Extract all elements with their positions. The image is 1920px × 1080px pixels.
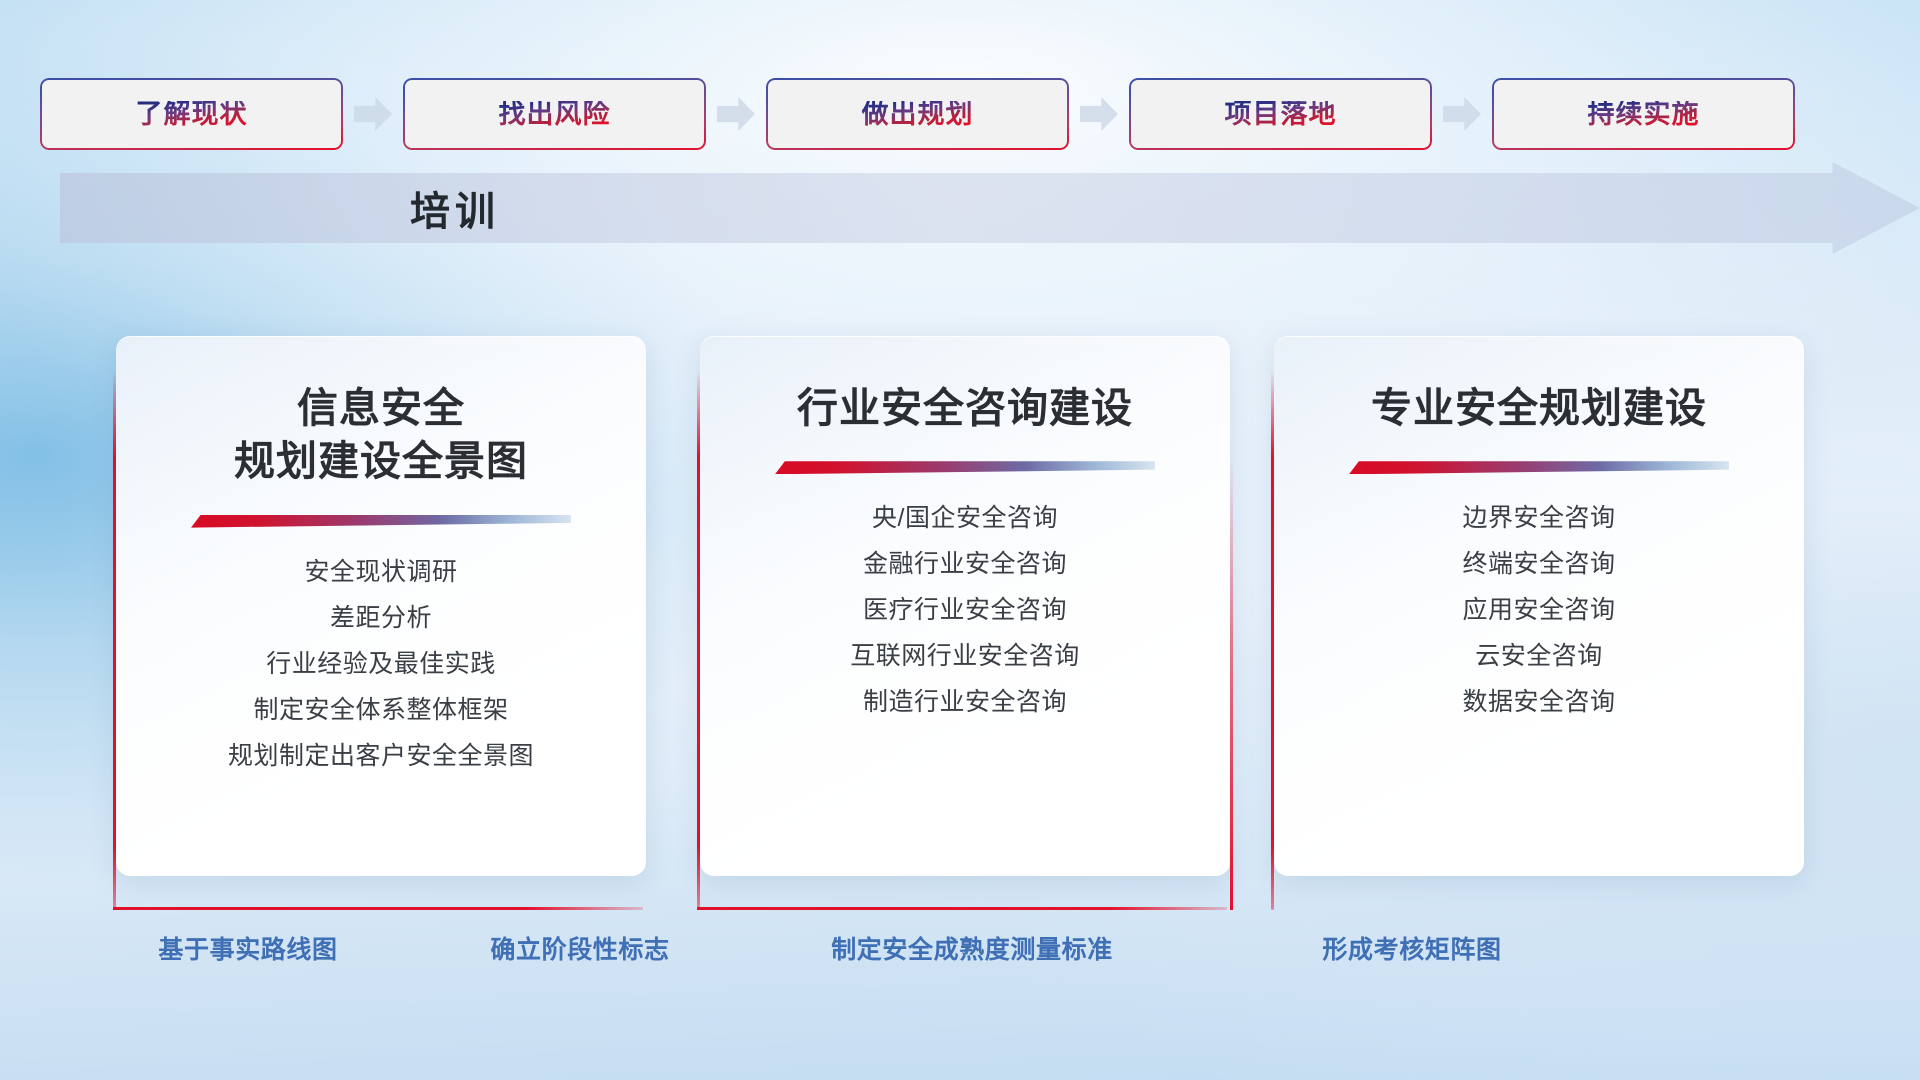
- bottom-labels-row: 基于事实路线图 确立阶段性标志 制定安全成熟度测量标准 形成考核矩阵图: [0, 930, 1920, 974]
- card-3[interactable]: 专业安全规划建设 边界安全咨询 终端安全咨询 应用安全咨询 云安全咨询 数据安全…: [1274, 336, 1804, 876]
- chevron-right-arrow-icon: [1443, 97, 1481, 131]
- list-item: 安全现状调研: [150, 560, 612, 606]
- card-accent-right: [1230, 456, 1233, 910]
- flow-step-label: 项目落地: [1225, 101, 1337, 128]
- list-item: 央/国企安全咨询: [734, 506, 1196, 552]
- flow-arrow-3: [1069, 78, 1129, 150]
- flow-step-4[interactable]: 项目落地: [1129, 78, 1432, 150]
- chevron-right-arrow-icon: [1080, 97, 1118, 131]
- card-title: 信息安全 规划建设全景图: [234, 382, 528, 489]
- flow-step-label: 做出规划: [862, 101, 974, 128]
- card-list: 安全现状调研 差距分析 行业经验及最佳实践 制定安全体系整体框架 规划制定出客户…: [150, 560, 612, 790]
- list-item: 互联网行业安全咨询: [734, 644, 1196, 690]
- bottom-label-4: 形成考核矩阵图: [1322, 930, 1501, 966]
- list-item: 边界安全咨询: [1308, 506, 1770, 552]
- list-item: 云安全咨询: [1308, 644, 1770, 690]
- list-item: 制造行业安全咨询: [734, 690, 1196, 736]
- bottom-label-3: 制定安全成熟度测量标准: [831, 930, 1113, 966]
- flow-step-label: 了解现状: [136, 101, 248, 128]
- training-title: 培训: [60, 179, 1920, 237]
- flow-step-3[interactable]: 做出规划: [766, 78, 1069, 150]
- training-band: 培训: [60, 162, 1920, 254]
- card-divider: [1349, 461, 1729, 474]
- cards-row: 信息安全 规划建设全景图 安全现状调研 差距分析 行业经验及最佳实践 制定安全体…: [0, 336, 1920, 876]
- list-item: 终端安全咨询: [1308, 552, 1770, 598]
- list-item: 规划制定出客户安全全景图: [150, 744, 612, 790]
- card-accent-bottom: [113, 907, 643, 910]
- flow-arrow-4: [1432, 78, 1492, 150]
- card-2[interactable]: 行业安全咨询建设 央/国企安全咨询 金融行业安全咨询 医疗行业安全咨询 互联网行…: [700, 336, 1230, 876]
- list-item: 医疗行业安全咨询: [734, 598, 1196, 644]
- card-divider: [775, 461, 1155, 474]
- card-divider: [191, 515, 571, 528]
- card-list: 央/国企安全咨询 金融行业安全咨询 医疗行业安全咨询 互联网行业安全咨询 制造行…: [734, 506, 1196, 736]
- list-item: 金融行业安全咨询: [734, 552, 1196, 598]
- card-1[interactable]: 信息安全 规划建设全景图 安全现状调研 差距分析 行业经验及最佳实践 制定安全体…: [116, 336, 646, 876]
- card-accent-bottom: [697, 907, 1227, 910]
- process-flow-row: 了解现状 找出风险 做出规划 项目落地 持续实施: [40, 78, 1880, 150]
- card-title: 专业安全规划建设: [1371, 382, 1707, 435]
- flow-step-label: 找出风险: [499, 101, 611, 128]
- bottom-label-1: 基于事实路线图: [158, 930, 337, 966]
- list-item: 行业经验及最佳实践: [150, 652, 612, 698]
- chevron-right-arrow-icon: [354, 97, 392, 131]
- flow-step-5[interactable]: 持续实施: [1492, 78, 1795, 150]
- card-list: 边界安全咨询 终端安全咨询 应用安全咨询 云安全咨询 数据安全咨询: [1308, 506, 1770, 736]
- flow-step-1[interactable]: 了解现状: [40, 78, 343, 150]
- list-item: 差距分析: [150, 606, 612, 652]
- card-title: 行业安全咨询建设: [797, 382, 1133, 435]
- chevron-right-arrow-icon: [717, 97, 755, 131]
- flow-step-2[interactable]: 找出风险: [403, 78, 706, 150]
- list-item: 制定安全体系整体框架: [150, 698, 612, 744]
- slide-canvas: 了解现状 找出风险 做出规划 项目落地 持续实施 培训 信息安全 规划建设全景图: [0, 0, 1920, 1080]
- flow-arrow-2: [706, 78, 766, 150]
- flow-step-label: 持续实施: [1588, 101, 1700, 128]
- list-item: 数据安全咨询: [1308, 690, 1770, 736]
- list-item: 应用安全咨询: [1308, 598, 1770, 644]
- flow-arrow-1: [343, 78, 403, 150]
- bottom-label-2: 确立阶段性标志: [490, 930, 669, 966]
